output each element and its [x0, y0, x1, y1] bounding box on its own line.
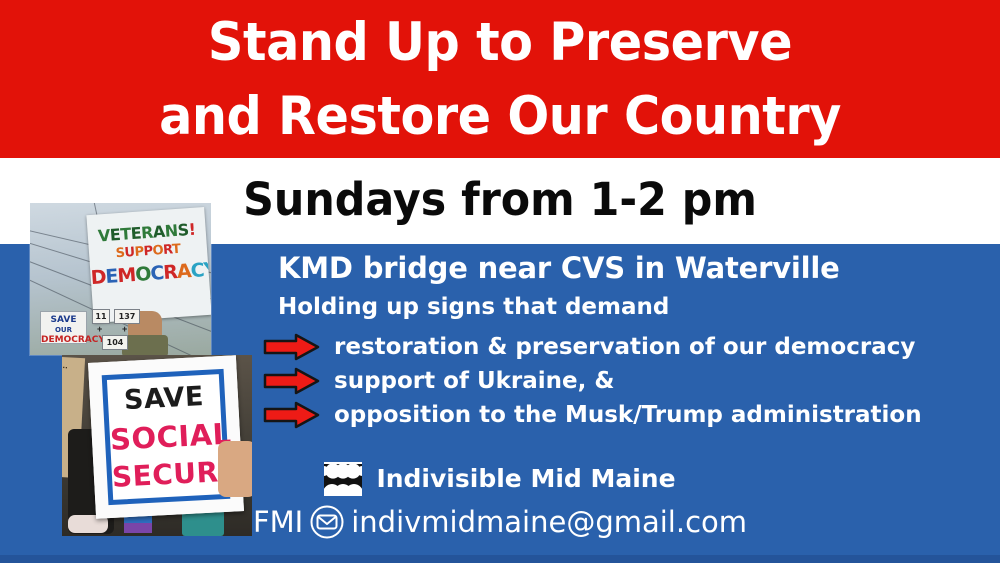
contact-row: FMI indivmidmaine@gmail.com: [0, 503, 1000, 541]
plus-marker-left: +: [97, 324, 102, 334]
page-title: Stand Up to Preserve and Restore Our Cou…: [35, 6, 965, 154]
indivisible-logo-icon: [324, 462, 362, 496]
activity-description: Holding up signs that demand: [278, 292, 669, 322]
organization-name: Indivisible Mid Maine: [376, 463, 675, 495]
contact-email[interactable]: indivmidmaine@gmail.com: [351, 503, 747, 541]
organization-row: Indivisible Mid Maine: [0, 462, 1000, 496]
veterans-sign-line-3: DEMOCRACY: [90, 259, 209, 289]
veterans-protest-sign: VETERANS! SUPPORT DEMOCRACY: [86, 207, 211, 323]
list-item: support of Ukraine, &: [262, 364, 992, 398]
right-arrow-icon: [262, 366, 324, 396]
demand-label: restoration & preservation of our democr…: [334, 332, 915, 362]
plus-marker-right: +: [122, 324, 127, 334]
small-sign-line-2: OUR: [41, 325, 86, 335]
small-sign-line-3: DEMOCRACY: [41, 335, 86, 345]
small-sign-line-1: SAVE: [41, 315, 86, 325]
demand-label: support of Ukraine, &: [334, 366, 614, 396]
list-item: restoration & preservation of our democr…: [262, 330, 992, 364]
route-sign-137: 137: [114, 309, 140, 324]
right-arrow-icon: [262, 400, 324, 430]
event-location: KMD bridge near CVS in Waterville: [278, 250, 840, 286]
demands-list: restoration & preservation of our democr…: [262, 330, 992, 432]
list-item: opposition to the Musk/Trump administrat…: [262, 398, 992, 432]
fmi-label: FMI: [253, 503, 303, 541]
event-flyer: Stand Up to Preserve and Restore Our Cou…: [0, 0, 1000, 563]
photo-veterans-sign: VETERANS! SUPPORT DEMOCRACY SAVE OUR DEM…: [30, 203, 211, 355]
sss-line-1: SAVE: [107, 380, 220, 417]
demand-label: opposition to the Musk/Trump administrat…: [334, 400, 922, 430]
envelope-circle-icon: [309, 504, 345, 540]
sss-line-2: SOCIAL: [109, 417, 223, 457]
right-arrow-icon: [262, 332, 324, 362]
road-signs-group: 11 137 + + 104: [92, 309, 148, 353]
route-sign-11: 11: [92, 309, 110, 324]
blue-footer-strip: [0, 555, 1000, 563]
save-our-democracy-sign: SAVE OUR DEMOCRACY: [40, 311, 87, 344]
headline-line-2: and Restore Our Country: [35, 80, 965, 154]
route-sign-104: 104: [102, 335, 128, 350]
headline-line-1: Stand Up to Preserve: [35, 6, 965, 80]
